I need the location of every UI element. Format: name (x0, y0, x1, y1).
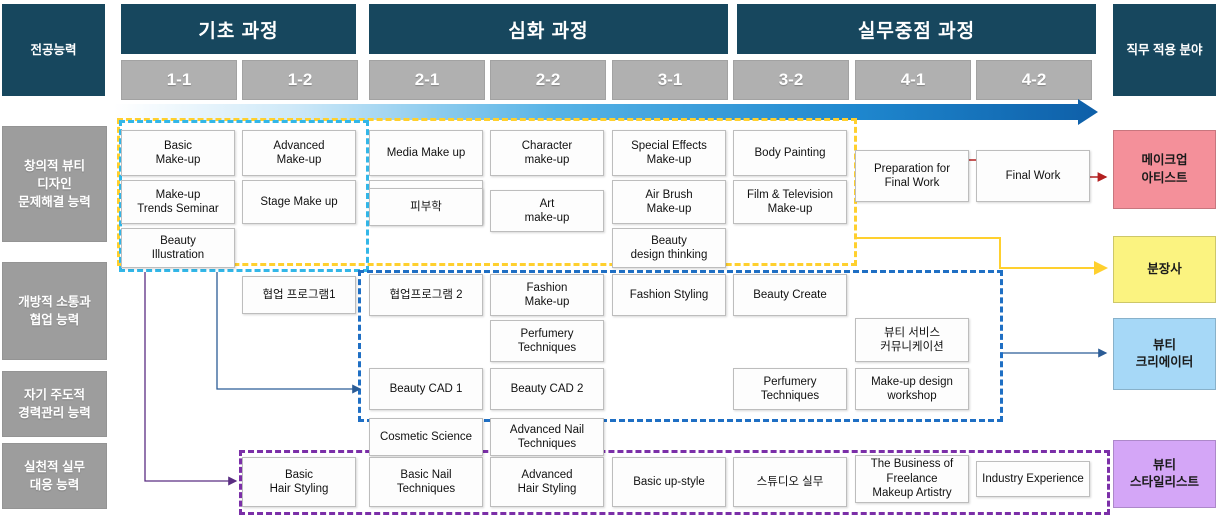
course-box[interactable]: Final Work (976, 150, 1090, 202)
course-box[interactable]: 뷰티 서비스커뮤니케이션 (855, 318, 969, 362)
course-box[interactable]: Beauty CAD 1 (369, 368, 483, 410)
course-box[interactable]: Beauty CAD 2 (490, 368, 604, 410)
course-label: 피부학 (410, 200, 442, 214)
course-label: Final Work (1006, 169, 1061, 183)
course-label: Advanced NailTechniques (510, 423, 584, 452)
course-label: FashionMake-up (525, 281, 570, 310)
course-label: AdvancedMake-up (273, 139, 324, 168)
course-box[interactable]: Preparation forFinal Work (855, 150, 969, 202)
course-label: 협업 프로그램1 (262, 288, 335, 302)
course-box[interactable]: Body Painting (733, 130, 847, 176)
course-label: 뷰티 서비스커뮤니케이션 (880, 326, 943, 355)
course-label: Make-upTrends Seminar (137, 188, 218, 217)
course-box[interactable]: Artmake-up (490, 190, 604, 232)
course-box[interactable]: Make-up designworkshop (855, 368, 969, 410)
course-box[interactable]: BasicMake-up (121, 130, 235, 176)
course-box[interactable]: Fashion Styling (612, 274, 726, 316)
course-box[interactable]: BeautyIllustration (121, 228, 235, 268)
course-label: BeautyIllustration (152, 234, 204, 263)
course-label: Fashion Styling (630, 288, 709, 302)
course-box[interactable]: Advanced NailTechniques (490, 418, 604, 456)
course-label: Body Painting (755, 146, 826, 160)
course-label: 협업프로그램 2 (389, 288, 462, 302)
course-box[interactable]: PerfumeryTechniques (490, 320, 604, 362)
course-box[interactable]: The Business ofFreelanceMakeup Artistry (855, 455, 969, 503)
course-label: Basic NailTechniques (397, 468, 455, 497)
course-label: Basic up-style (633, 475, 705, 489)
course-label: AdvancedHair Styling (518, 468, 577, 497)
course-box[interactable]: Beautydesign thinking (612, 228, 726, 268)
course-box[interactable]: 협업 프로그램1 (242, 276, 356, 314)
course-label: Special EffectsMake-up (631, 139, 707, 168)
course-label: Stage Make up (260, 195, 337, 209)
course-label: 스튜디오 실무 (757, 475, 824, 489)
course-label: Make-up designworkshop (871, 375, 953, 404)
course-label: Media Make up (387, 146, 466, 160)
course-label: Preparation forFinal Work (874, 162, 950, 191)
connector-yellow-to-stage-artist (857, 238, 1106, 268)
course-box[interactable]: Special EffectsMake-up (612, 130, 726, 176)
course-label: BasicHair Styling (270, 468, 329, 497)
course-box[interactable]: AdvancedMake-up (242, 130, 356, 176)
course-label: Beauty Create (753, 288, 827, 302)
course-box[interactable]: 피부학 (369, 188, 483, 226)
curriculum-roadmap: 전공능력 직무 적용 분야 기초 과정 심화 과정 실무중점 과정 1-11-2… (0, 0, 1218, 521)
course-label: The Business ofFreelanceMakeup Artistry (871, 457, 953, 500)
connector-cyan-to-purple-frame (145, 272, 236, 481)
course-label: Beauty CAD 2 (511, 382, 584, 396)
course-box[interactable]: Air BrushMake-up (612, 180, 726, 224)
course-label: Film & TelevisionMake-up (747, 188, 833, 217)
course-label: Industry Experience (982, 472, 1084, 486)
course-box[interactable]: Film & TelevisionMake-up (733, 180, 847, 224)
course-box[interactable]: Basic NailTechniques (369, 457, 483, 507)
course-label: Beauty CAD 1 (390, 382, 463, 396)
course-box[interactable]: Media Make up (369, 130, 483, 176)
course-label: BasicMake-up (156, 139, 201, 168)
course-label: Cosmetic Science (380, 430, 472, 444)
course-box[interactable]: 스튜디오 실무 (733, 457, 847, 507)
course-label: Charactermake-up (522, 139, 573, 168)
course-box[interactable]: Make-upTrends Seminar (121, 180, 235, 224)
course-label: Artmake-up (525, 197, 570, 226)
course-box[interactable]: Cosmetic Science (369, 418, 483, 456)
course-label: PerfumeryTechniques (518, 327, 576, 356)
course-box[interactable]: PerfumeryTechniques (733, 368, 847, 410)
course-label: PerfumeryTechniques (761, 375, 819, 404)
course-label: Beautydesign thinking (631, 234, 708, 263)
course-label: Air BrushMake-up (645, 188, 692, 217)
course-box[interactable]: 협업프로그램 2 (369, 274, 483, 316)
course-box[interactable]: AdvancedHair Styling (490, 457, 604, 507)
course-box[interactable]: Basic up-style (612, 457, 726, 507)
course-box[interactable]: Stage Make up (242, 180, 356, 224)
course-box[interactable]: Beauty Create (733, 274, 847, 316)
course-box[interactable]: BasicHair Styling (242, 457, 356, 507)
course-box[interactable]: FashionMake-up (490, 274, 604, 316)
course-box[interactable]: Industry Experience (976, 461, 1090, 497)
course-box[interactable]: Charactermake-up (490, 130, 604, 176)
